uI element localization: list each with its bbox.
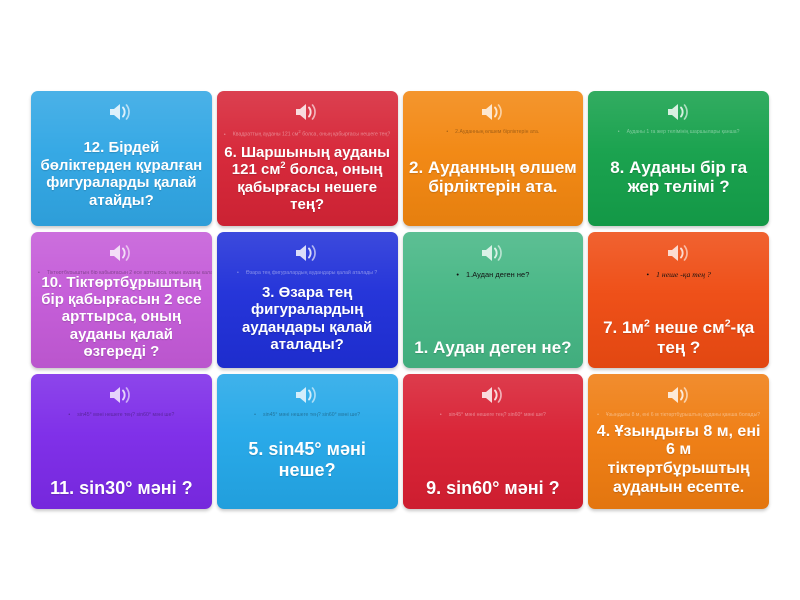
speaker-icon[interactable] bbox=[480, 384, 506, 406]
speaker-icon[interactable] bbox=[480, 242, 506, 264]
speaker-icon[interactable] bbox=[294, 242, 320, 264]
card-headline: 3. Өзара тең фигуралардың аудандары қала… bbox=[217, 277, 398, 368]
card-headline: 7. 1м2 неше см2-қа тең ? bbox=[588, 280, 769, 368]
card-headline: 8. Ауданы бір га жер телімі ? bbox=[588, 135, 769, 226]
speaker-icon[interactable] bbox=[108, 101, 134, 123]
card-headline: 12. Бірдей бөліктерден құралған фигурала… bbox=[31, 129, 212, 226]
speaker-icon[interactable] bbox=[294, 101, 320, 123]
speaker-icon[interactable] bbox=[480, 101, 506, 123]
card-subtext: •Квадраттың ауданы 121 см2 болса, оның қ… bbox=[217, 129, 398, 138]
speaker-icon[interactable] bbox=[666, 242, 692, 264]
card-headline: 4. Ұзындығы 8 м, ені 6 м тіктөртбұрыштың… bbox=[588, 418, 769, 509]
quiz-card-2[interactable]: •Квадраттың ауданы 121 см2 болса, оның қ… bbox=[217, 91, 398, 226]
card-headline: 1. Аудан деген не? bbox=[403, 280, 584, 368]
quiz-card-1[interactable]: 12. Бірдей бөліктерден құралған фигурала… bbox=[31, 91, 212, 226]
quiz-card-7[interactable]: •1.Аудан деген не?1. Аудан деген не? bbox=[403, 232, 584, 367]
speaker-icon[interactable] bbox=[666, 101, 692, 123]
card-headline: 10. Тіктөртбұрыштың бір қабырғасын 2 есе… bbox=[31, 274, 212, 368]
quiz-card-3[interactable]: •2.Ауданның өлшем бірліктерін ата.2. Ауд… bbox=[403, 91, 584, 226]
quiz-card-11[interactable]: •sin45° мәні нешеге тең? sin60° мәні ше?… bbox=[403, 374, 584, 509]
card-headline: 2. Ауданның өлшем бірліктерін ата. bbox=[403, 135, 584, 226]
card-headline: 9. sin60° мәні ? bbox=[403, 418, 584, 509]
card-headline: 5. sin45° мәні неше? bbox=[217, 418, 398, 509]
speaker-icon[interactable] bbox=[108, 384, 134, 406]
quiz-card-12[interactable]: •Ұзындығы 8 м, ені 6 м тіктөртбұрыштың а… bbox=[588, 374, 769, 509]
card-grid: 12. Бірдей бөліктерден құралған фигурала… bbox=[31, 91, 769, 509]
card-subtext: •1 неше -қа тең ? bbox=[588, 270, 769, 279]
card-subtext: •1.Аудан деген не? bbox=[403, 270, 584, 279]
quiz-card-4[interactable]: •Ауданы 1 га жер телімінің шаршылары қан… bbox=[588, 91, 769, 226]
card-headline: 11. sin30° мәні ? bbox=[31, 418, 212, 509]
quiz-card-8[interactable]: •1 неше -қа тең ?7. 1м2 неше см2-қа тең … bbox=[588, 232, 769, 367]
quiz-card-5[interactable]: •Тіктөртбұрыштың бір қабырғасын 2 есе ар… bbox=[31, 232, 212, 367]
quiz-card-9[interactable]: •sin45° мәні нешеге тең? sin60° мәні ше?… bbox=[31, 374, 212, 509]
quiz-card-6[interactable]: •Өзара тең фигуралардың аудандары қалай … bbox=[217, 232, 398, 367]
quiz-card-10[interactable]: •sin45° мәні нешеге тең? sin60° мәні ше?… bbox=[217, 374, 398, 509]
speaker-icon[interactable] bbox=[666, 384, 692, 406]
speaker-icon[interactable] bbox=[108, 242, 134, 264]
speaker-icon[interactable] bbox=[294, 384, 320, 406]
card-headline: 6. Шаршының ауданы 121 см2 болса, оның қ… bbox=[217, 138, 398, 226]
